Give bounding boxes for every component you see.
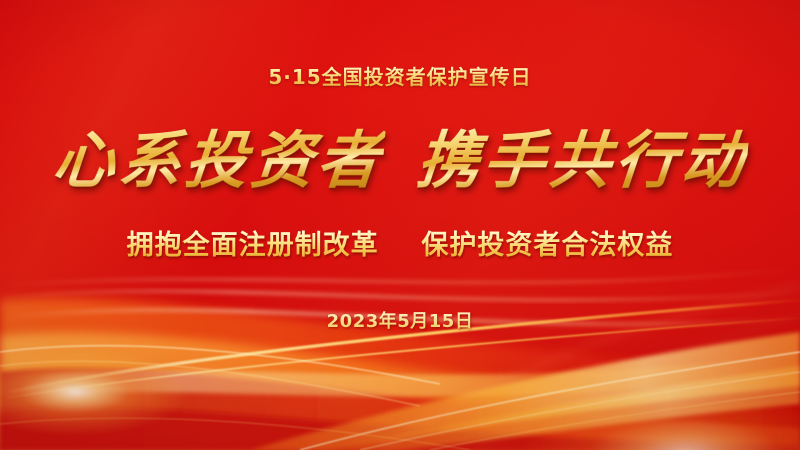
subtitle-left-text: 拥抱全面注册制改革	[127, 230, 379, 261]
subtitle-right-text: 保护投资者合法权益	[421, 230, 673, 261]
headline-slogan: 心系投资者 携手共行动	[0, 118, 800, 204]
poster-canvas: 5·15全国投资者保护宣传日 心系投资者 携手共行动 拥抱全面注册制改革 保护投…	[0, 0, 800, 450]
campaign-eyebrow-text: 5·15全国投资者保护宣传日	[0, 64, 800, 90]
event-date-text: 2023年5月15日	[0, 310, 800, 334]
subtitle-line: 拥抱全面注册制改革 保护投资者合法权益	[0, 228, 800, 264]
headline-part-2: 携手共行动	[414, 126, 750, 196]
poster-text-block: 5·15全国投资者保护宣传日 心系投资者 携手共行动 拥抱全面注册制改革 保护投…	[0, 0, 800, 450]
headline-part-1: 心系投资者	[50, 126, 386, 196]
